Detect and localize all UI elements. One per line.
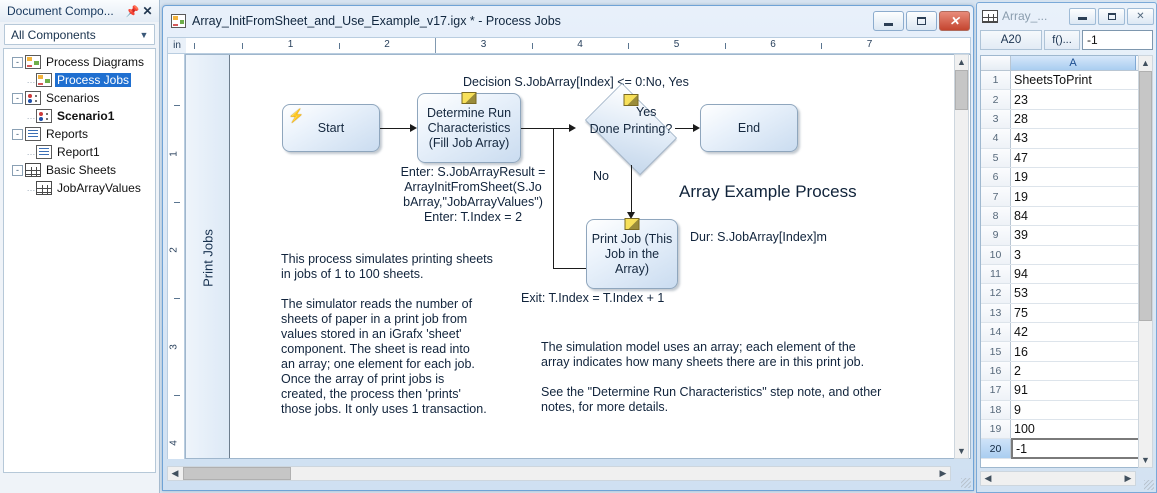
formula-bar: A20 f()... -1 xyxy=(980,29,1153,50)
ruler-mark: 2 xyxy=(384,39,390,50)
swimlane-print-jobs: Print Jobs xyxy=(186,55,230,459)
process-diagram-icon xyxy=(25,55,41,69)
cell-reference-box[interactable]: A20 xyxy=(980,30,1042,50)
row-header[interactable]: 19 xyxy=(981,420,1011,438)
sheet-icon xyxy=(25,163,41,177)
tree-item-label: JobArrayValues xyxy=(55,181,143,195)
row-header[interactable]: 8 xyxy=(981,207,1011,225)
minimize-button[interactable] xyxy=(873,11,904,31)
tree-item-scenarios[interactable]: -Scenarios xyxy=(6,89,153,107)
report-icon xyxy=(25,127,41,141)
sheet-cell[interactable]: 75 xyxy=(1011,304,1152,322)
sheet-row[interactable]: 1516 xyxy=(981,342,1152,361)
tree-item-report1[interactable]: …Report1 xyxy=(6,143,153,161)
sheet-rows: 1SheetsToPrint22332844354761971988493910… xyxy=(981,71,1152,459)
sheet-icon xyxy=(36,181,52,195)
column-header-a[interactable]: A xyxy=(1011,56,1136,70)
tree-item-process-diagrams[interactable]: -Process Diagrams xyxy=(6,53,153,71)
scroll-right-icon[interactable]: ▶ xyxy=(1121,472,1135,485)
row-header[interactable]: 6 xyxy=(981,168,1011,186)
sheet-window: Array_... ✕ A20 f()... -1 A 1SheetsToPri… xyxy=(976,2,1157,493)
row-header[interactable]: 7 xyxy=(981,187,1011,205)
ruler-tick xyxy=(174,298,180,299)
sheet-titlebar: Array_... ✕ xyxy=(977,3,1156,29)
sheet-horizontal-scrollbar[interactable]: ◀ ▶ xyxy=(980,471,1136,486)
row-header[interactable]: 4 xyxy=(981,129,1011,147)
sheet-cell[interactable]: 42 xyxy=(1011,323,1152,341)
ruler-margin-marker xyxy=(435,38,436,54)
connector-decision-end xyxy=(675,128,695,129)
node-start-label: Start xyxy=(318,121,344,136)
component-tree[interactable]: -Process Diagrams…Process Jobs-Scenarios… xyxy=(3,48,156,473)
sheet-row[interactable]: 547 xyxy=(981,149,1152,168)
sheet-row[interactable]: 719 xyxy=(981,187,1152,206)
tree-expander[interactable]: - xyxy=(12,129,23,140)
scroll-down-icon[interactable]: ▼ xyxy=(955,444,968,458)
sheet-row[interactable]: 19100 xyxy=(981,420,1152,439)
branch-label-no: No xyxy=(593,169,609,184)
row-header[interactable]: 11 xyxy=(981,265,1011,283)
scroll-left-icon[interactable]: ◀ xyxy=(981,472,995,485)
ruler-mark: 2 xyxy=(168,247,179,253)
tree-item-process-jobs[interactable]: …Process Jobs xyxy=(6,71,153,89)
node-end[interactable]: End xyxy=(700,104,798,152)
ruler-tick xyxy=(194,43,195,49)
sheet-row[interactable]: 1253 xyxy=(981,284,1152,303)
row-header[interactable]: 15 xyxy=(981,342,1011,360)
ruler-tick xyxy=(628,43,629,49)
node-print-job-label: Print Job (This Job in the Array) xyxy=(587,232,677,277)
scenario-icon xyxy=(36,109,52,123)
ruler-mark: 4 xyxy=(577,39,583,50)
diagram-vertical-scrollbar[interactable]: ▲ ▼ xyxy=(954,54,969,459)
tree-connector-icon: … xyxy=(26,75,36,85)
row-header[interactable]: 3 xyxy=(981,110,1011,128)
tree-item-basic-sheets[interactable]: -Basic Sheets xyxy=(6,161,153,179)
node-decision-label: Done Printing? xyxy=(590,122,673,137)
ruler-mark: 3 xyxy=(168,344,179,350)
sheet-row[interactable]: 189 xyxy=(981,401,1152,420)
ruler-tick xyxy=(174,202,180,203)
sheet-cell[interactable]: 39 xyxy=(1011,226,1152,244)
ruler-tick xyxy=(339,43,340,49)
function-button[interactable]: f()... xyxy=(1044,30,1080,50)
row-header[interactable]: 16 xyxy=(981,362,1011,380)
close-button[interactable]: ✕ xyxy=(939,11,970,31)
swimlane-label: Print Jobs xyxy=(200,229,215,287)
connector-loop-horizontal xyxy=(553,268,587,269)
scroll-up-icon[interactable]: ▲ xyxy=(1139,56,1152,70)
sheet-row[interactable]: 1375 xyxy=(981,304,1152,323)
pin-icon[interactable]: 📌 xyxy=(125,3,140,19)
scenario-icon xyxy=(25,91,41,105)
ruler-tick xyxy=(821,43,822,49)
sheet-row[interactable]: 619 xyxy=(981,168,1152,187)
flowchart: Decision S.JobArray[Index] <= 0:No, Yes … xyxy=(231,55,970,458)
scroll-left-icon[interactable]: ◀ xyxy=(168,467,182,480)
sheet-row[interactable]: 1442 xyxy=(981,323,1152,342)
sheet-row[interactable]: 20-1 xyxy=(981,439,1152,458)
tree-item-label: Process Jobs xyxy=(55,73,131,87)
sheet-close-button[interactable]: ✕ xyxy=(1127,8,1154,25)
column-header-row: A xyxy=(981,56,1152,71)
row-header[interactable]: 18 xyxy=(981,401,1011,419)
connector-decision-printjob xyxy=(631,165,632,215)
node-done-printing-decision[interactable]: Done Printing? xyxy=(576,92,686,166)
sheet-cell[interactable]: 94 xyxy=(1011,265,1152,283)
node-print-job[interactable]: Print Job (This Job in the Array) xyxy=(586,219,678,289)
ruler-mark: 4 xyxy=(168,440,179,446)
diagram-canvas[interactable]: Print Jobs Decision S.JobArray[Index] <=… xyxy=(185,54,971,459)
sheet-row[interactable]: 939 xyxy=(981,226,1152,245)
sheet-cell[interactable]: 43 xyxy=(1011,129,1152,147)
note-left: This process simulates printing sheets i… xyxy=(281,252,493,417)
sheet-row[interactable]: 1SheetsToPrint xyxy=(981,71,1152,90)
component-filter-label: All Components xyxy=(11,28,134,42)
tree-item-label: Process Diagrams xyxy=(44,55,146,69)
sheet-row[interactable]: 1791 xyxy=(981,381,1152,400)
annotation-exit-text: Exit: T.Index = T.Index + 1 xyxy=(521,291,664,306)
arrow-icon xyxy=(693,124,700,132)
resize-grip[interactable] xyxy=(961,478,971,488)
ruler-tick xyxy=(725,43,726,49)
note-right: The simulation model uses an array; each… xyxy=(541,340,881,415)
node-start[interactable]: ⚡ Start xyxy=(282,104,380,152)
ruler-tick xyxy=(532,43,533,49)
sheet-minimize-button[interactable] xyxy=(1069,8,1096,25)
row-header[interactable]: 2 xyxy=(981,90,1011,108)
diagram-hscroll-thumb[interactable] xyxy=(183,467,291,480)
sheet-cell[interactable]: SheetsToPrint xyxy=(1011,71,1152,89)
sheet-cell[interactable]: 28 xyxy=(1011,110,1152,128)
report-icon xyxy=(36,145,52,159)
tree-item-jobarrayvalues[interactable]: …JobArrayValues xyxy=(6,179,153,197)
horizontal-ruler-track: 1234567 xyxy=(186,38,970,53)
ruler-mark: 5 xyxy=(674,39,680,50)
sheet-maximize-button[interactable] xyxy=(1098,8,1125,25)
row-header[interactable]: 9 xyxy=(981,226,1011,244)
diagram-title: Array Example Process xyxy=(679,182,857,202)
sheet-cell[interactable]: -1 xyxy=(1011,438,1152,458)
note-icon xyxy=(625,218,640,230)
lightning-bolt-icon: ⚡ xyxy=(288,108,304,123)
sheet-window-title: Array_... xyxy=(1002,9,1067,23)
annotation-enter-text: Enter: S.JobArrayResult = ArrayInitFromS… xyxy=(397,165,549,225)
row-header[interactable]: 13 xyxy=(981,304,1011,322)
close-icon[interactable]: ✕ xyxy=(140,3,155,19)
sheet-row[interactable]: 1194 xyxy=(981,265,1152,284)
document-components-title: Document Compo... xyxy=(7,4,125,18)
tree-connector-icon: … xyxy=(26,147,36,157)
tree-item-label: Report1 xyxy=(55,145,102,159)
sheet-row[interactable]: 103 xyxy=(981,246,1152,265)
branch-label-yes: Yes xyxy=(636,105,656,120)
scroll-right-icon[interactable]: ▶ xyxy=(936,467,950,480)
process-diagram-icon xyxy=(171,14,186,28)
document-components-titlebar: Document Compo... 📌 ✕ xyxy=(0,0,159,22)
sheet-cell[interactable]: 47 xyxy=(1011,149,1152,167)
select-all-corner[interactable] xyxy=(981,56,1011,70)
sheet-cell[interactable]: 2 xyxy=(1011,362,1152,380)
sheet-grid[interactable]: A 1SheetsToPrint223328443547619719884939… xyxy=(980,55,1153,468)
sheet-cell[interactable]: 19 xyxy=(1011,168,1152,186)
ruler-tick xyxy=(174,105,180,106)
row-header[interactable]: 10 xyxy=(981,246,1011,264)
diagram-horizontal-scrollbar[interactable]: ◀ ▶ xyxy=(167,466,951,481)
tree-expander[interactable]: - xyxy=(12,57,23,68)
sheet-vertical-scrollbar[interactable]: ▲ ▼ xyxy=(1138,55,1153,468)
row-header[interactable]: 5 xyxy=(981,149,1011,167)
tree-item-label: Basic Sheets xyxy=(44,163,118,177)
tree-item-scenario1[interactable]: …Scenario1 xyxy=(6,107,153,125)
sheet-cell[interactable]: 3 xyxy=(1011,246,1152,264)
scroll-down-icon[interactable]: ▼ xyxy=(1139,453,1152,467)
sheet-cell[interactable]: 100 xyxy=(1011,420,1152,438)
horizontal-ruler: in 1234567 xyxy=(167,37,971,54)
arrow-icon xyxy=(410,124,417,132)
tree-connector-icon: … xyxy=(26,111,36,121)
component-filter-dropdown[interactable]: All Components ▼ xyxy=(4,24,155,45)
sheet-icon xyxy=(982,10,998,23)
vertical-ruler: 1234 xyxy=(167,54,185,459)
sheet-row[interactable]: 884 xyxy=(981,207,1152,226)
node-determine-run-characteristics[interactable]: Determine Run Characteristics (Fill Job … xyxy=(417,93,521,163)
ruler-mark: 1 xyxy=(168,151,179,157)
tree-item-label: Reports xyxy=(44,127,90,141)
sheet-cell[interactable]: 91 xyxy=(1011,381,1152,399)
note-icon xyxy=(462,92,477,104)
sheet-row[interactable]: 162 xyxy=(981,362,1152,381)
ruler-unit-label: in xyxy=(168,38,186,53)
maximize-button[interactable] xyxy=(906,11,937,31)
tree-expander[interactable]: - xyxy=(12,165,23,176)
sheet-row[interactable]: 328 xyxy=(981,110,1152,129)
scroll-up-icon[interactable]: ▲ xyxy=(955,55,968,69)
document-components-panel: Document Compo... 📌 ✕ All Components ▼ -… xyxy=(0,0,160,493)
ruler-tick xyxy=(242,43,243,49)
tree-item-label: Scenarios xyxy=(44,91,101,105)
diagram-window-title: Array_InitFromSheet_and_Use_Example_v17.… xyxy=(192,14,871,28)
row-header[interactable]: 12 xyxy=(981,284,1011,302)
ruler-mark: 3 xyxy=(481,39,487,50)
sheet-row[interactable]: 443 xyxy=(981,129,1152,148)
connector-loop-vertical xyxy=(553,128,554,268)
diagram-titlebar: Array_InitFromSheet_and_Use_Example_v17.… xyxy=(163,6,973,36)
tree-expander[interactable]: - xyxy=(12,93,23,104)
process-diagram-icon xyxy=(36,73,52,87)
sheet-cell[interactable]: 23 xyxy=(1011,90,1152,108)
sheet-resize-grip[interactable] xyxy=(1144,480,1154,490)
chevron-down-icon: ▼ xyxy=(134,30,154,40)
ruler-mark: 7 xyxy=(867,39,873,50)
annotation-dur-text: Dur: S.JobArray[Index]m xyxy=(690,230,827,245)
connector-start-determine xyxy=(380,128,412,129)
ruler-tick xyxy=(174,395,180,396)
row-header[interactable]: 20 xyxy=(981,439,1011,457)
tree-item-reports[interactable]: -Reports xyxy=(6,125,153,143)
sheet-vscroll-thumb[interactable] xyxy=(1139,71,1152,321)
process-diagram-window: Array_InitFromSheet_and_Use_Example_v17.… xyxy=(162,5,974,491)
sheet-cell[interactable]: 16 xyxy=(1011,342,1152,360)
diagram-vscroll-thumb[interactable] xyxy=(955,70,968,110)
formula-input[interactable]: -1 xyxy=(1082,30,1153,50)
ruler-mark: 6 xyxy=(770,39,776,50)
node-determine-label: Determine Run Characteristics (Fill Job … xyxy=(418,106,520,151)
decision-caption: Decision S.JobArray[Index] <= 0:No, Yes xyxy=(463,75,689,90)
sheet-cell[interactable]: 84 xyxy=(1011,207,1152,225)
row-header[interactable]: 17 xyxy=(981,381,1011,399)
tree-item-label: Scenario1 xyxy=(55,109,116,123)
row-header[interactable]: 14 xyxy=(981,323,1011,341)
tree-connector-icon: … xyxy=(26,183,36,193)
sheet-cell[interactable]: 53 xyxy=(1011,284,1152,302)
arrow-icon xyxy=(569,124,576,132)
row-header[interactable]: 1 xyxy=(981,71,1011,89)
node-end-label: End xyxy=(738,121,760,136)
sheet-cell[interactable]: 9 xyxy=(1011,401,1152,419)
sheet-cell[interactable]: 19 xyxy=(1011,187,1152,205)
ruler-mark: 1 xyxy=(288,39,294,50)
sheet-row[interactable]: 223 xyxy=(981,90,1152,109)
connector-determine-decision xyxy=(521,128,571,129)
